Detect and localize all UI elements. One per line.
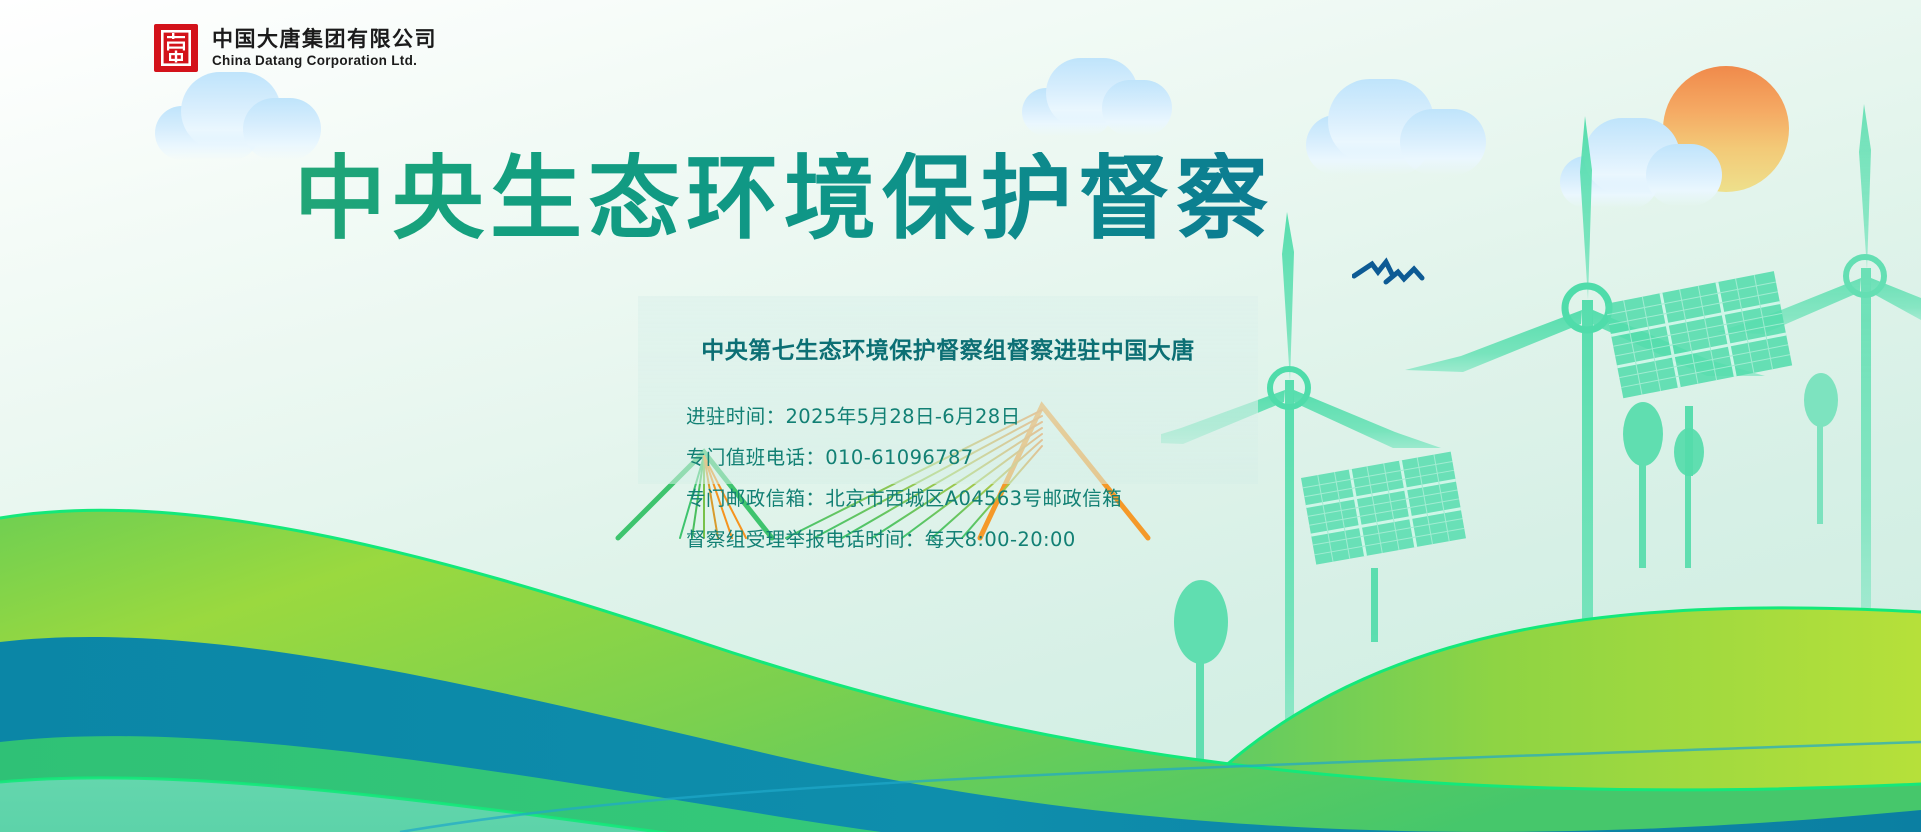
page-title: 中央生态环境保护督察	[0, 152, 1568, 244]
info-list: 进驻时间：2025年5月28日-6月28日 专门值班电话：010-6109678…	[686, 396, 1122, 560]
logo-company-name-en: China Datang Corporation Ltd.	[212, 54, 437, 68]
panel-subtitle: 中央第七生态环境保护督察组督察进驻中国大唐	[638, 331, 1258, 365]
logo-company-name-cn: 中国大唐集团有限公司	[212, 29, 437, 50]
list-item: 专门值班电话：010-61096787	[686, 437, 1122, 478]
list-item: 进驻时间：2025年5月28日-6月28日	[686, 396, 1122, 437]
list-item: 专门邮政信箱：北京市西城区A04563号邮政信箱	[686, 478, 1122, 519]
eco-inspection-banner: 中国大唐集团有限公司 China Datang Corporation Ltd.…	[0, 0, 1921, 832]
company-logo: 中国大唐集团有限公司 China Datang Corporation Ltd.	[152, 22, 437, 74]
datang-seal-icon	[152, 22, 200, 74]
list-item: 督察组受理举报电话时间：每天8:00-20:00	[686, 519, 1122, 560]
